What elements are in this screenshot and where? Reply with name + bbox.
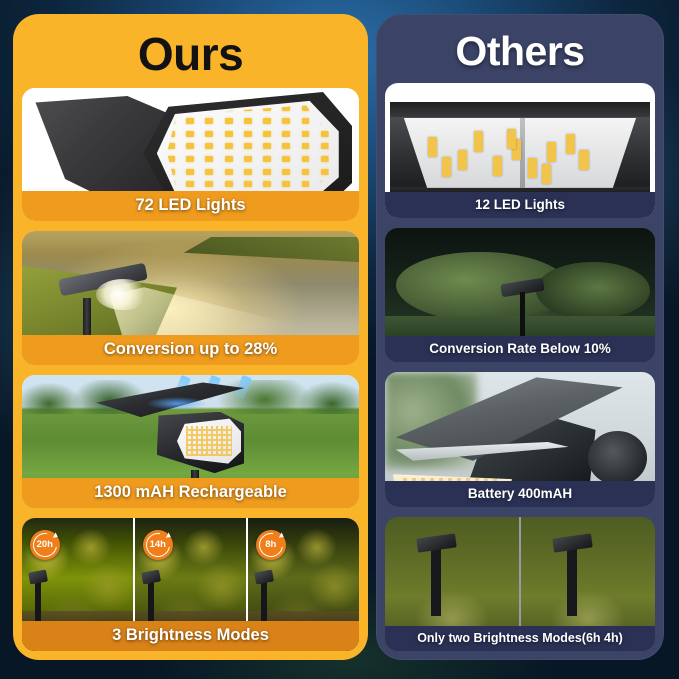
feature-card-battery-ours: 1300 mAH Rechargeable bbox=[22, 375, 359, 508]
column-title-others: Others bbox=[385, 23, 655, 83]
feature-card-led-ours: 72 LED Lights bbox=[22, 88, 359, 221]
column-others: Others bbox=[376, 14, 664, 660]
runtime-badge-20h: 20h bbox=[30, 530, 60, 560]
column-ours: Ours bbox=[13, 14, 368, 660]
bush-right bbox=[536, 262, 649, 318]
feature-list-ours: 72 LED Lights Conversion up to 28% bbox=[22, 88, 359, 651]
runtime-badge-8h: 8h bbox=[256, 530, 286, 560]
feature-card-modes-ours: 20h 14h bbox=[22, 518, 359, 651]
led-chip bbox=[458, 150, 467, 170]
feature-list-others: 12 LED Lights Conversion Rate Below 10% bbox=[385, 83, 655, 651]
led-chip bbox=[493, 156, 502, 176]
led-chip bbox=[474, 131, 483, 151]
lamp-glow bbox=[96, 279, 150, 310]
feature-card-battery-others: Battery 400mAH bbox=[385, 372, 655, 507]
led-chip-grid bbox=[167, 105, 329, 200]
feature-caption: 3 Brightness Modes bbox=[22, 621, 359, 651]
mount-knob bbox=[588, 431, 647, 485]
feature-caption: 72 LED Lights bbox=[22, 191, 359, 221]
runtime-badge-label: 8h bbox=[265, 539, 276, 550]
lamp-mini bbox=[431, 546, 442, 616]
feature-card-led-others: 12 LED Lights bbox=[385, 83, 655, 218]
feature-caption: 12 LED Lights bbox=[385, 192, 655, 218]
grass-back bbox=[184, 237, 359, 280]
feature-card-conversion-others: Conversion Rate Below 10% bbox=[385, 228, 655, 363]
feature-caption: Only two Brightness Modes(6h 4h) bbox=[385, 626, 655, 651]
led-chip bbox=[507, 129, 516, 149]
led-chip bbox=[542, 164, 551, 184]
arrow-icon bbox=[53, 532, 59, 539]
arrow-icon bbox=[279, 532, 285, 539]
led-chip bbox=[566, 134, 575, 154]
feature-caption: Battery 400mAH bbox=[385, 481, 655, 507]
feature-card-conversion-ours: Conversion up to 28% bbox=[22, 231, 359, 364]
lamp-mini bbox=[567, 546, 578, 616]
led-chip bbox=[428, 137, 437, 157]
column-title-ours: Ours bbox=[22, 23, 359, 88]
comparison-stage: Ours bbox=[0, 0, 679, 679]
lamp-top-bar bbox=[390, 102, 649, 117]
feature-caption: Conversion Rate Below 10% bbox=[385, 336, 655, 362]
feature-caption: 1300 mAH Rechargeable bbox=[22, 478, 359, 508]
runtime-badge-label: 20h bbox=[37, 539, 53, 550]
arrow-icon bbox=[166, 532, 172, 539]
led-chip bbox=[442, 157, 451, 177]
runtime-badge-label: 14h bbox=[150, 539, 166, 550]
lamp-led-face bbox=[177, 417, 241, 465]
led-chip bbox=[547, 142, 556, 162]
runtime-badge-14h: 14h bbox=[143, 530, 173, 560]
led-chip bbox=[528, 158, 537, 178]
led-chip bbox=[579, 150, 588, 170]
feature-caption: Conversion up to 28% bbox=[22, 335, 359, 365]
feature-card-modes-others: Only two Brightness Modes(6h 4h) bbox=[385, 517, 655, 652]
